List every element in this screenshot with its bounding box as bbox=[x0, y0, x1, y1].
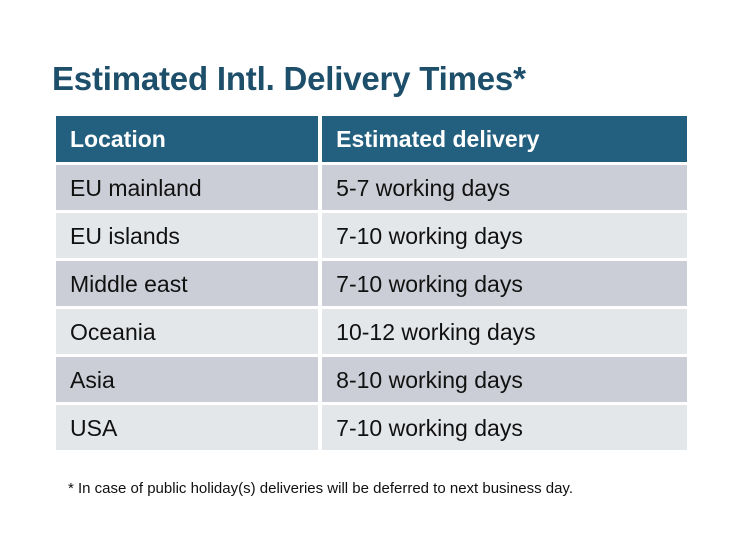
cell-delivery: 7-10 working days bbox=[322, 405, 687, 450]
cell-delivery: 8-10 working days bbox=[322, 357, 687, 402]
table-row: Oceania 10-12 working days bbox=[56, 309, 687, 354]
table-body: EU mainland 5-7 working days EU islands … bbox=[56, 165, 687, 450]
cell-delivery: 7-10 working days bbox=[322, 213, 687, 258]
table-row: Middle east 7-10 working days bbox=[56, 261, 687, 306]
footnote: * In case of public holiday(s) deliverie… bbox=[68, 479, 573, 499]
table-header-row: Location Estimated delivery bbox=[56, 116, 687, 162]
cell-delivery: 10-12 working days bbox=[322, 309, 687, 354]
page-title: Estimated Intl. Delivery Times* bbox=[52, 58, 526, 100]
table-row: EU mainland 5-7 working days bbox=[56, 165, 687, 210]
table-row: USA 7-10 working days bbox=[56, 405, 687, 450]
estimated-delivery-table: Location Estimated delivery EU mainland … bbox=[52, 113, 691, 453]
cell-delivery: 7-10 working days bbox=[322, 261, 687, 306]
table-header: Location Estimated delivery bbox=[56, 116, 687, 162]
cell-delivery: 5-7 working days bbox=[322, 165, 687, 210]
cell-location: Oceania bbox=[56, 309, 318, 354]
column-header-location: Location bbox=[56, 116, 318, 162]
delivery-times-page: Estimated Intl. Delivery Times* Location… bbox=[0, 0, 745, 536]
table-row: Asia 8-10 working days bbox=[56, 357, 687, 402]
cell-location: Asia bbox=[56, 357, 318, 402]
table-row: EU islands 7-10 working days bbox=[56, 213, 687, 258]
column-header-estimated-delivery: Estimated delivery bbox=[322, 116, 687, 162]
cell-location: Middle east bbox=[56, 261, 318, 306]
cell-location: EU mainland bbox=[56, 165, 318, 210]
cell-location: EU islands bbox=[56, 213, 318, 258]
cell-location: USA bbox=[56, 405, 318, 450]
